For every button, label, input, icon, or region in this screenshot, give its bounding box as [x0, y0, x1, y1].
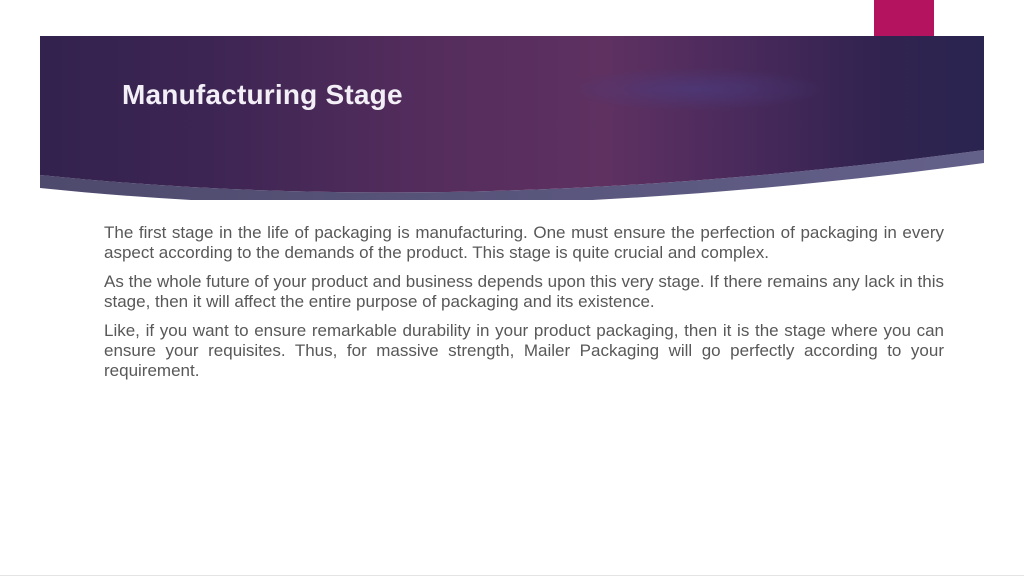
body-paragraph: The first stage in the life of packaging…	[104, 223, 944, 263]
body-paragraph: As the whole future of your product and …	[104, 272, 944, 312]
pink-accent-tab	[874, 0, 934, 98]
slide-title: Manufacturing Stage	[122, 79, 403, 111]
presentation-slide: Manufacturing Stage The first stage in t…	[0, 0, 1024, 576]
slide-body: The first stage in the life of packaging…	[104, 223, 944, 381]
body-paragraph: Like, if you want to ensure remarkable d…	[104, 321, 944, 381]
